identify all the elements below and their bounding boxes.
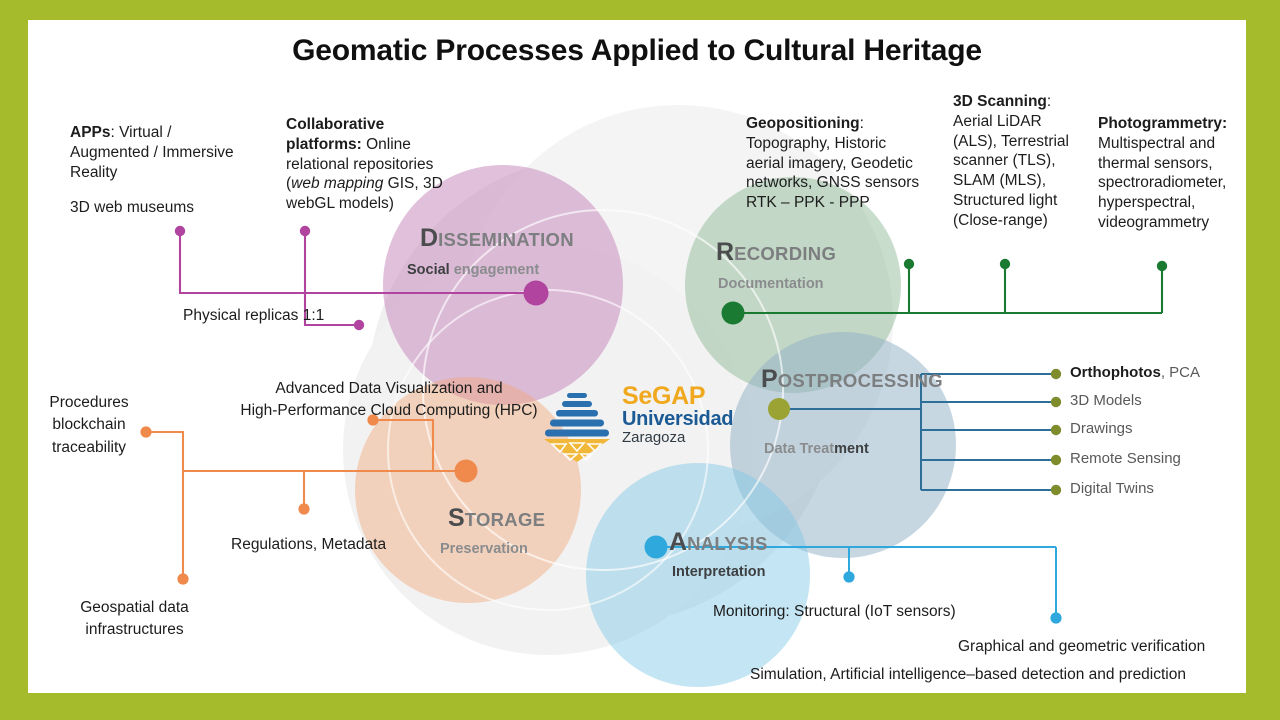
note-simulation: Simulation, Artificial intelligence–base… xyxy=(750,665,1186,685)
note-photogrammetry: Photogrammetry: Multispectral and therma… xyxy=(1098,114,1246,233)
list-item-orthophotos[interactable]: Orthophotos, PCA xyxy=(1070,364,1200,381)
node-photogrammetry[interactable] xyxy=(1157,261,1167,271)
dissemination-rest: ISSEMINATION xyxy=(438,229,574,250)
dissemination-sub-muted: engagement xyxy=(450,262,539,278)
stepped-pyramid-icon xyxy=(540,388,614,462)
postprocessing-cap: P xyxy=(761,365,778,393)
list-item-digital-twins[interactable]: Digital Twins xyxy=(1070,480,1154,497)
dissemination-sub-strong: Social xyxy=(407,262,450,278)
page-title: Geomatic Processes Applied to Cultural H… xyxy=(28,34,1246,68)
note-geospatial: Geospatial data infrastructures xyxy=(52,597,217,642)
note-scanning-label: 3D Scanning xyxy=(953,93,1047,110)
note-geopositioning: Geopositioning: Topography, Historic aer… xyxy=(746,114,946,213)
section-title-storage: STORAGE xyxy=(448,504,545,533)
section-sub-storage: Preservation xyxy=(440,541,528,557)
section-sub-dissemination: Social engagement xyxy=(407,262,539,278)
section-title-dissemination: DISSEMINATION xyxy=(420,224,574,253)
postprocessing-sub-muted: ment xyxy=(834,441,869,457)
note-physical-replicas: Physical replicas 1:1 xyxy=(183,306,324,326)
note-3d-scanning: 3D Scanning: Aerial LiDAR (ALS), Terrest… xyxy=(953,92,1093,231)
logo-wordmark: SeGAP Universidad Zaragoza xyxy=(622,384,733,447)
section-title-recording: RECORDING xyxy=(716,238,836,267)
section-sub-postprocessing: Data Treatment xyxy=(764,441,869,457)
note-scanning-body: : Aerial LiDAR (ALS), Terrestrial scanne… xyxy=(953,93,1069,229)
section-sub-analysis: Interpretation xyxy=(672,564,765,580)
hub-recording[interactable] xyxy=(722,302,745,325)
list-item-3d-models[interactable]: 3D Models xyxy=(1070,392,1142,409)
logo-city: Zaragoza xyxy=(622,430,733,447)
storage-cap: S xyxy=(448,504,465,532)
note-platforms-italic: web mapping xyxy=(291,175,383,192)
hub-postprocessing[interactable] xyxy=(768,398,790,420)
postprocessing-rest: OSTPROCESSING xyxy=(778,370,943,391)
node-physical-replicas[interactable] xyxy=(354,320,364,330)
node-geospatial-data[interactable] xyxy=(177,573,188,584)
list-item-remote-sensing[interactable]: Remote Sensing xyxy=(1070,450,1181,467)
hub-storage[interactable] xyxy=(455,460,478,483)
recording-sub-strong: Documentation xyxy=(718,276,824,292)
note-verification: Graphical and geometric verification xyxy=(958,637,1205,657)
node-3d-models[interactable] xyxy=(1051,397,1061,407)
postprocessing-sub-strong: Data Treat xyxy=(764,441,834,457)
note-photogrammetry-body: Multispectral and thermal sensors, spect… xyxy=(1098,135,1226,231)
analysis-sub-strong: Interpretation xyxy=(672,564,765,580)
node-remote-sensing[interactable] xyxy=(1051,455,1061,465)
node-orthophotos[interactable] xyxy=(1051,369,1061,379)
node-digital-twins[interactable] xyxy=(1051,485,1061,495)
hub-analysis[interactable] xyxy=(645,536,668,559)
section-title-analysis: ANALYSIS xyxy=(669,528,768,557)
node-3d-scanning[interactable] xyxy=(1000,259,1010,269)
poster-frame: Geomatic Processes Applied to Cultural H… xyxy=(0,0,1280,720)
section-sub-recording: Documentation xyxy=(718,276,824,292)
poster-panel: Geomatic Processes Applied to Cultural H… xyxy=(28,20,1246,693)
orthophotos-label: Orthophotos xyxy=(1070,364,1161,381)
note-procedures: Procedures blockchain traceability xyxy=(34,392,144,459)
note-apps: APPs: Virtual / Augmented / Immersive Re… xyxy=(70,123,285,182)
hub-dissemination[interactable] xyxy=(524,281,549,306)
logo-brand: SeGAP xyxy=(622,384,733,409)
orthophotos-extra: , PCA xyxy=(1161,364,1200,381)
note-monitoring: Monitoring: Structural (IoT sensors) xyxy=(713,602,956,622)
storage-rest: TORAGE xyxy=(465,509,546,530)
node-regulations[interactable] xyxy=(298,503,309,514)
note-hpc: Advanced Data Visualization and High-Per… xyxy=(239,378,539,423)
note-collaborative-platforms: Collaborative platforms: Online relation… xyxy=(286,115,491,214)
recording-rest: ECORDING xyxy=(734,243,836,264)
node-monitoring[interactable] xyxy=(843,571,854,582)
note-photogrammetry-label: Photogrammetry: xyxy=(1098,115,1227,132)
note-apps-label: APPs xyxy=(70,124,111,141)
section-title-postprocessing: POSTPROCESSING xyxy=(761,365,943,394)
node-drawings[interactable] xyxy=(1051,425,1061,435)
dissemination-cap: D xyxy=(420,224,438,252)
logo-university: Universidad xyxy=(622,409,733,430)
note-apps-extra: 3D web museums xyxy=(70,198,194,218)
segap-logo: SeGAP Universidad Zaragoza xyxy=(540,388,752,460)
node-geopositioning[interactable] xyxy=(904,259,914,269)
analysis-rest: NALYSIS xyxy=(687,533,768,554)
node-apps[interactable] xyxy=(175,226,185,236)
analysis-cap: A xyxy=(669,528,687,556)
recording-cap: R xyxy=(716,238,734,266)
node-collaborative-platforms[interactable] xyxy=(300,226,310,236)
list-item-drawings[interactable]: Drawings xyxy=(1070,420,1133,437)
note-geopositioning-label: Geopositioning xyxy=(746,115,860,132)
node-verification[interactable] xyxy=(1050,612,1061,623)
note-regulations: Regulations, Metadata xyxy=(231,535,386,555)
storage-sub-strong: Preservation xyxy=(440,541,528,557)
